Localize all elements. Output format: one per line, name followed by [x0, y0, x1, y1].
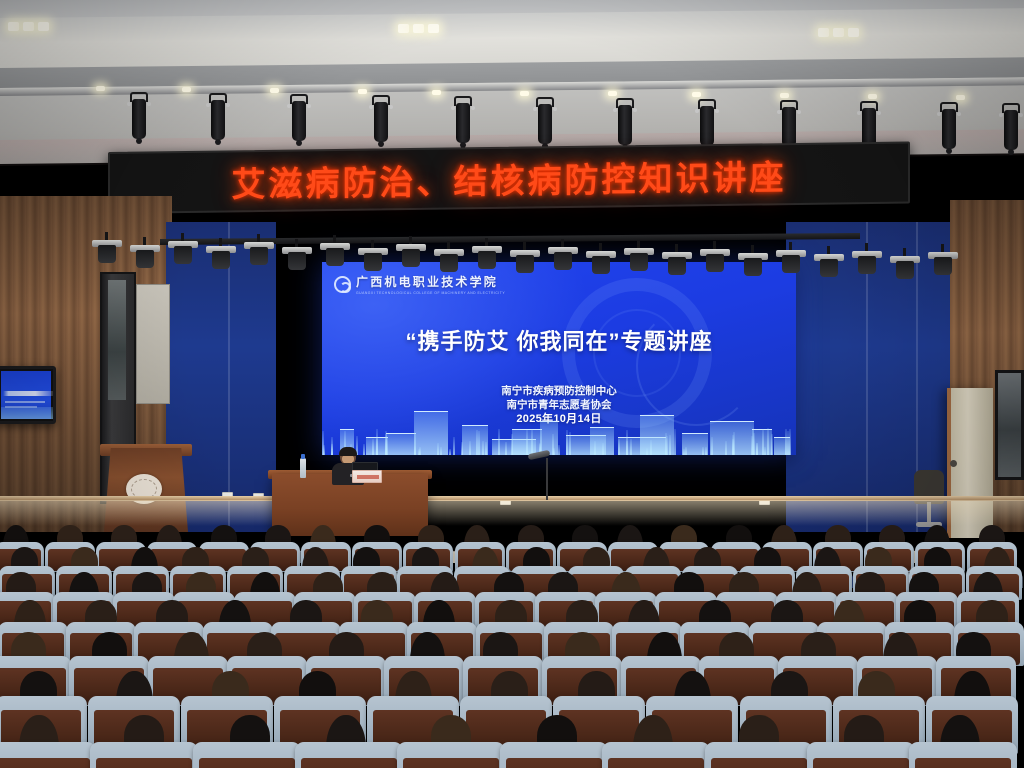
skyline-spike [437, 443, 439, 455]
truss-lamp [780, 93, 789, 98]
seat-wood-panel [813, 758, 908, 768]
stage-light-pin [1019, 113, 1023, 117]
stage-front-light [244, 234, 274, 268]
led-banner-text: 艾滋病防治、结核病防控知识讲座 [108, 142, 910, 214]
stage-front-light [586, 243, 616, 277]
truss-lamp [868, 94, 877, 99]
stage-front-light [396, 236, 426, 270]
stage-front-light-body [858, 256, 876, 274]
stage-front-light [168, 233, 198, 267]
seat-wood-panel [301, 758, 396, 768]
seat [295, 742, 403, 768]
skyline-spike [771, 434, 773, 455]
stage-light [207, 93, 229, 145]
stage-front-light-body [592, 256, 610, 274]
stage-light [614, 98, 636, 150]
stage-light [452, 96, 474, 148]
stage-front-light [358, 240, 388, 274]
led-banner: 艾滋病防治、结核病防控知识讲座 [108, 142, 910, 214]
skyline-spike [531, 429, 533, 455]
stage-front-light-body [98, 245, 116, 263]
skyline-spike [511, 434, 513, 455]
stage-front-light [206, 238, 236, 272]
stage-light-body [456, 103, 470, 143]
stage-light-lens [296, 140, 302, 146]
stage-light-body [1004, 110, 1018, 150]
skyline-spike [566, 430, 568, 455]
skyline-spike [482, 441, 484, 455]
stage-front-light [814, 246, 844, 280]
seat [602, 742, 710, 768]
truss-lamp [608, 91, 617, 96]
seat [397, 742, 505, 768]
wall-mounted-tv [0, 366, 56, 424]
skyline-spike [461, 442, 463, 455]
stage-front-light [320, 235, 350, 269]
skyline-spike [498, 429, 500, 455]
skyline-spike [453, 437, 455, 455]
truss-lamp [182, 87, 191, 92]
stage-light-pin [695, 109, 699, 113]
stage-light [1000, 103, 1022, 155]
lecture-hall-photo: 艾滋病防治、结核病防控知识讲座 [0, 0, 1024, 768]
left-door-glass [108, 280, 126, 400]
skyline-spike [322, 431, 324, 455]
left-wall-panel [136, 284, 170, 404]
skyline-spike [666, 436, 668, 455]
stage-front-light [662, 244, 692, 278]
skyline-spike [646, 448, 648, 455]
stage-light-pin [226, 103, 230, 107]
seat [909, 742, 1017, 768]
seat-wood-panel [506, 758, 601, 768]
stage-light-pin [857, 111, 861, 115]
seat-wood-panel [199, 758, 294, 768]
stage-light-body [374, 102, 388, 142]
audience-seating [0, 520, 1024, 768]
stage-front-light-body [820, 259, 838, 277]
skyline-spike [558, 445, 560, 455]
stage-front-light [548, 239, 578, 273]
stage-front-light [738, 245, 768, 279]
truss-lamp [520, 91, 529, 96]
tv-title-line [3, 391, 56, 396]
stage-light-lens [136, 138, 142, 144]
stage-light [370, 95, 392, 147]
stage-light-pin [553, 107, 557, 111]
stage-front-light-body [136, 250, 154, 268]
seat [807, 742, 915, 768]
skyline-building [386, 433, 416, 455]
stage-front-light-body [212, 251, 230, 269]
truss-lamp [358, 89, 367, 94]
seat-wood-panel [608, 758, 703, 768]
presenter-hair [339, 447, 357, 456]
slide-skyline-graphic [322, 403, 796, 455]
stage-light-pin [206, 103, 210, 107]
skyline-spike [650, 440, 652, 455]
college-logo-mark-icon [334, 276, 351, 293]
skyline-spike [478, 431, 480, 455]
stage-front-light [510, 242, 540, 276]
stage-light-body [700, 106, 714, 146]
stage-light-pin [999, 113, 1003, 117]
tv-subtitle-line [5, 401, 45, 403]
stage-front-light-body [934, 257, 952, 275]
stage-light-pin [613, 108, 617, 112]
skyline-spike [787, 431, 789, 455]
stage-front-light-body [250, 247, 268, 265]
stage-light-pin [877, 111, 881, 115]
skyline-spike [449, 449, 451, 455]
downlight-group [398, 24, 439, 33]
stage-front-light-body [478, 251, 496, 269]
skyline-spike [552, 434, 554, 455]
door-handle-icon[interactable] [950, 460, 957, 467]
truss-lamp [270, 88, 279, 93]
stage-front-light [282, 239, 312, 273]
stage-front-light-body [288, 252, 306, 270]
skyline-spike [440, 447, 442, 455]
stage-front-light-body [364, 253, 382, 271]
stage-front-light-body [896, 261, 914, 279]
stage-light-pin [127, 102, 131, 106]
skyline-spike [469, 441, 471, 455]
stage-front-light [624, 240, 654, 274]
skyline-spike [711, 437, 713, 455]
stage-front-light [472, 238, 502, 272]
skyline-spike [753, 433, 755, 455]
skyline-spike [764, 447, 766, 455]
stage-light [534, 97, 556, 149]
stage-light-body [942, 109, 956, 149]
skyline-spike [630, 439, 632, 455]
stage-light-body [538, 104, 552, 144]
stage-front-light [852, 243, 882, 277]
skyline-spike [476, 430, 478, 455]
stage-light-pin [369, 105, 373, 109]
skyline-spike [385, 434, 387, 455]
stage-light-lens [378, 141, 384, 147]
projection-screen: 广西机电职业技术学院 GUANGXI TECHNOLOGICAL COLLEGE… [322, 262, 796, 455]
slide-host-line-1: 南宁市疾病预防控制中心 [322, 384, 796, 398]
stage-front-light-body [174, 246, 192, 264]
skyline-spike [705, 447, 707, 455]
college-logo-text-cn: 广西机电职业技术学院 [356, 273, 505, 290]
stage-light [938, 102, 960, 154]
skyline-spike [685, 447, 687, 455]
skyline-spike [751, 436, 753, 455]
truss-lamp [96, 86, 105, 91]
stage-front-light [928, 244, 958, 278]
stage-light-body [211, 100, 225, 140]
stage-front-light-body [402, 249, 420, 267]
skyline-spike [702, 447, 704, 455]
stage-light-pin [389, 105, 393, 109]
stage-light-pin [937, 112, 941, 116]
truss-lamp [692, 92, 701, 97]
skyline-spike [789, 429, 791, 455]
stage-light-pin [147, 102, 151, 106]
skyline-spike [725, 441, 727, 455]
skyline-spike [376, 429, 378, 455]
right-window [995, 370, 1024, 480]
stage-light-body [132, 99, 146, 139]
skyline-spike [372, 439, 374, 455]
tv-skyline [1, 407, 56, 419]
stage-light-pin [777, 110, 781, 114]
microphone-stand [546, 458, 548, 500]
skyline-spike [602, 443, 604, 455]
stage-front-light [890, 248, 920, 282]
skyline-spike [419, 447, 421, 455]
seat [0, 742, 96, 768]
stage-front-light-body [782, 255, 800, 273]
college-logo: 广西机电职业技术学院 GUANGXI TECHNOLOGICAL COLLEGE… [334, 273, 505, 295]
stage-light-pin [633, 108, 637, 112]
name-card [352, 470, 382, 483]
skyline-spike [526, 430, 528, 455]
skyline-spike [626, 430, 628, 455]
stage-front-light-body [326, 248, 344, 266]
stage-light-pin [957, 112, 961, 116]
seat-wood-panel [915, 758, 1010, 768]
truss-lamp [432, 90, 441, 95]
skyline-spike [756, 443, 758, 455]
seat-wood-panel [96, 758, 191, 768]
seat [90, 742, 198, 768]
stage-light-body [292, 101, 306, 141]
seat [500, 742, 608, 768]
skyline-spike [485, 442, 487, 455]
seat [705, 742, 813, 768]
stage-light-pin [307, 104, 311, 108]
stage-front-light [776, 242, 806, 276]
stage-light-pin [715, 109, 719, 113]
downlight-group [818, 28, 859, 37]
skyline-spike [733, 432, 735, 455]
skyline-spike [669, 435, 671, 455]
downlight-group [8, 22, 49, 31]
water-bottle [300, 458, 306, 478]
stage-front-light [700, 241, 730, 275]
skyline-spike [594, 441, 596, 455]
skyline-spike [569, 432, 571, 455]
skyline-spike [505, 442, 507, 455]
seat-wood-panel [711, 758, 806, 768]
seat-wood-panel [403, 758, 498, 768]
stage-light-lens [1008, 149, 1014, 155]
stage-light-pin [287, 104, 291, 108]
seat-wood-panel [0, 758, 90, 768]
skyline-building [540, 421, 558, 455]
stage-light-pin [797, 110, 801, 114]
stage-front-light-body [516, 255, 534, 273]
skyline-spike [683, 449, 685, 455]
skyline-spike [414, 446, 416, 455]
stage-light-lens [946, 148, 952, 154]
stage-light-pin [533, 107, 537, 111]
skyline-spike [767, 428, 769, 455]
stage-front-light [434, 241, 464, 275]
stage-front-light-body [630, 253, 648, 271]
stage-light-pin [451, 106, 455, 110]
stage-light-pin [471, 106, 475, 110]
skyline-spike [674, 429, 676, 455]
skyline-spike [618, 439, 620, 455]
tv-screen [1, 371, 51, 419]
stage-front-light-body [554, 252, 572, 270]
stage-front-light-body [744, 258, 762, 276]
seat [193, 742, 301, 768]
stage-front-light-body [706, 254, 724, 272]
stage-front-light-body [668, 257, 686, 275]
stage-light [128, 92, 150, 144]
stage-light-lens [215, 139, 221, 145]
stage-light [288, 94, 310, 146]
slide-title: “携手防艾 你我同在”专题讲座 [322, 324, 796, 356]
stage-light-body [782, 107, 796, 147]
stage-front-light [92, 232, 122, 266]
stage-front-light-body [440, 254, 458, 272]
stage-light-body [618, 105, 632, 145]
stage-front-light [130, 237, 160, 271]
college-logo-text-en: GUANGXI TECHNOLOGICAL COLLEGE OF MACHINE… [356, 291, 505, 295]
truss-lamp [956, 95, 965, 100]
